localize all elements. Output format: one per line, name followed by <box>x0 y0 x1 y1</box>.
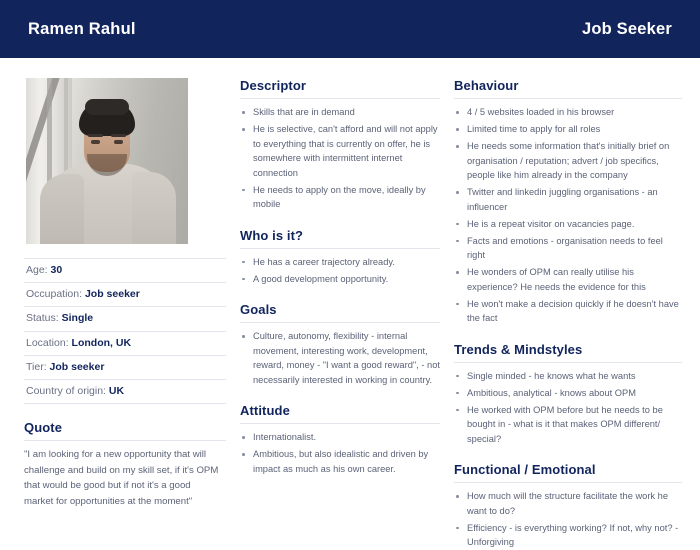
photo-person-eye-right <box>114 140 123 144</box>
list-item: He worked with OPM before but he needs t… <box>454 403 682 447</box>
section-title: Attitude <box>240 403 440 418</box>
bullet-list: Skills that are in demand He is selectiv… <box>240 105 440 212</box>
list-item: He has a career trajectory already. <box>240 255 440 270</box>
list-item: He won't make a decision quickly if he d… <box>454 297 682 326</box>
table-row: Age: 30 <box>24 258 226 283</box>
photo-person-eye-left <box>91 140 100 144</box>
photo-person-hair-top <box>85 99 129 115</box>
list-item: Skills that are in demand <box>240 105 440 120</box>
list-item: Internationalist. <box>240 430 440 445</box>
attribute-value: Job seeker <box>50 361 105 373</box>
list-item: Limited time to apply for all roles <box>454 122 682 137</box>
table-row: Status: Single <box>24 307 226 331</box>
attribute-label: Age: <box>26 264 48 276</box>
list-item: He wonders of OPM can really utilise his… <box>454 265 682 294</box>
section-divider <box>240 98 440 99</box>
section-divider <box>454 98 682 99</box>
list-item: He is a repeat visitor on vacancies page… <box>454 217 682 232</box>
list-item: Single minded - he knows what he wants <box>454 369 682 384</box>
bullet-list: Internationalist. Ambitious, but also id… <box>240 430 440 476</box>
section-divider <box>24 440 226 441</box>
attribute-label: Status: <box>26 312 59 324</box>
attribute-list: Age: 30 Occupation: Job seeker Status: S… <box>24 258 226 404</box>
table-row: Tier: Job seeker <box>24 356 226 380</box>
attribute-value: UK <box>109 385 124 397</box>
table-row: Location: London, UK <box>24 332 226 356</box>
bullet-list: Culture, autonomy, flexibility - interna… <box>240 329 440 387</box>
photo-person-shoulder-left <box>40 174 84 244</box>
attribute-label: Tier: <box>26 361 47 373</box>
list-item: Ambitious, but also idealistic and drive… <box>240 447 440 476</box>
quote-text: "I am looking for a new opportunity that… <box>24 447 226 509</box>
persona-body: Age: 30 Occupation: Job seeker Status: S… <box>0 58 700 495</box>
right-column: Behaviour 4 / 5 websites loaded in his b… <box>454 78 682 485</box>
section-divider <box>454 482 682 483</box>
list-item: Ambitious, analytical - knows about OPM <box>454 386 682 401</box>
bullet-list: He has a career trajectory already. A go… <box>240 255 440 287</box>
attribute-label: Occupation: <box>26 288 82 300</box>
attribute-value: Single <box>62 312 94 324</box>
bullet-list: Single minded - he knows what he wants A… <box>454 369 682 447</box>
section-attitude: Attitude Internationalist. Ambitious, bu… <box>240 403 440 476</box>
section-title: Goals <box>240 302 440 317</box>
section-title: Quote <box>24 420 226 435</box>
section-goals: Goals Culture, autonomy, flexibility - i… <box>240 302 440 387</box>
bullet-list: 4 / 5 websites loaded in his browser Lim… <box>454 105 682 326</box>
middle-column: Descriptor Skills that are in demand He … <box>240 78 454 485</box>
list-item: How much will the structure facilitate t… <box>454 489 682 518</box>
section-title: Who is it? <box>240 228 440 243</box>
section-divider <box>240 248 440 249</box>
section-divider <box>454 362 682 363</box>
table-row: Country of origin: UK <box>24 380 226 404</box>
photo-person-eyebrow-right <box>111 134 126 137</box>
section-title: Behaviour <box>454 78 682 93</box>
section-divider <box>240 423 440 424</box>
persona-card: Ramen Rahul Job Seeker <box>0 0 700 495</box>
table-row: Occupation: Job seeker <box>24 283 226 307</box>
attribute-value: Job seeker <box>85 288 140 300</box>
attribute-value: London, UK <box>72 337 131 349</box>
section-divider <box>240 322 440 323</box>
list-item: Efficiency - is everything working? If n… <box>454 521 682 550</box>
list-item: A good development opportunity. <box>240 272 440 287</box>
attribute-value: 30 <box>51 264 63 276</box>
photo-person-shoulder-right <box>132 172 176 244</box>
persona-role: Job Seeker <box>582 20 672 39</box>
list-item: Facts and emotions - organisation needs … <box>454 234 682 263</box>
section-who-is-it: Who is it? He has a career trajectory al… <box>240 228 440 287</box>
persona-portrait-photo <box>26 78 188 244</box>
section-title: Descriptor <box>240 78 440 93</box>
section-functional-emotional: Functional / Emotional How much will the… <box>454 462 682 550</box>
list-item: Twitter and linkedin juggling organisati… <box>454 185 682 214</box>
section-behaviour: Behaviour 4 / 5 websites loaded in his b… <box>454 78 682 326</box>
list-item: He is selective, can't afford and will n… <box>240 122 440 180</box>
section-trends-mindstyles: Trends & Mindstyles Single minded - he k… <box>454 342 682 447</box>
bullet-list: How much will the structure facilitate t… <box>454 489 682 550</box>
list-item: Culture, autonomy, flexibility - interna… <box>240 329 440 387</box>
list-item: 4 / 5 websites loaded in his browser <box>454 105 682 120</box>
attribute-label: Location: <box>26 337 69 349</box>
photo-person-eyebrow-left <box>88 134 103 137</box>
persona-header: Ramen Rahul Job Seeker <box>0 0 700 58</box>
section-descriptor: Descriptor Skills that are in demand He … <box>240 78 440 212</box>
quote-section: Quote "I am looking for a new opportunit… <box>24 420 226 509</box>
profile-column: Age: 30 Occupation: Job seeker Status: S… <box>24 78 240 485</box>
persona-name: Ramen Rahul <box>28 20 136 39</box>
list-item: He needs to apply on the move, ideally b… <box>240 183 440 212</box>
section-title: Functional / Emotional <box>454 462 682 477</box>
section-title: Trends & Mindstyles <box>454 342 682 357</box>
attribute-label: Country of origin: <box>26 385 106 397</box>
list-item: He needs some information that's initial… <box>454 139 682 183</box>
